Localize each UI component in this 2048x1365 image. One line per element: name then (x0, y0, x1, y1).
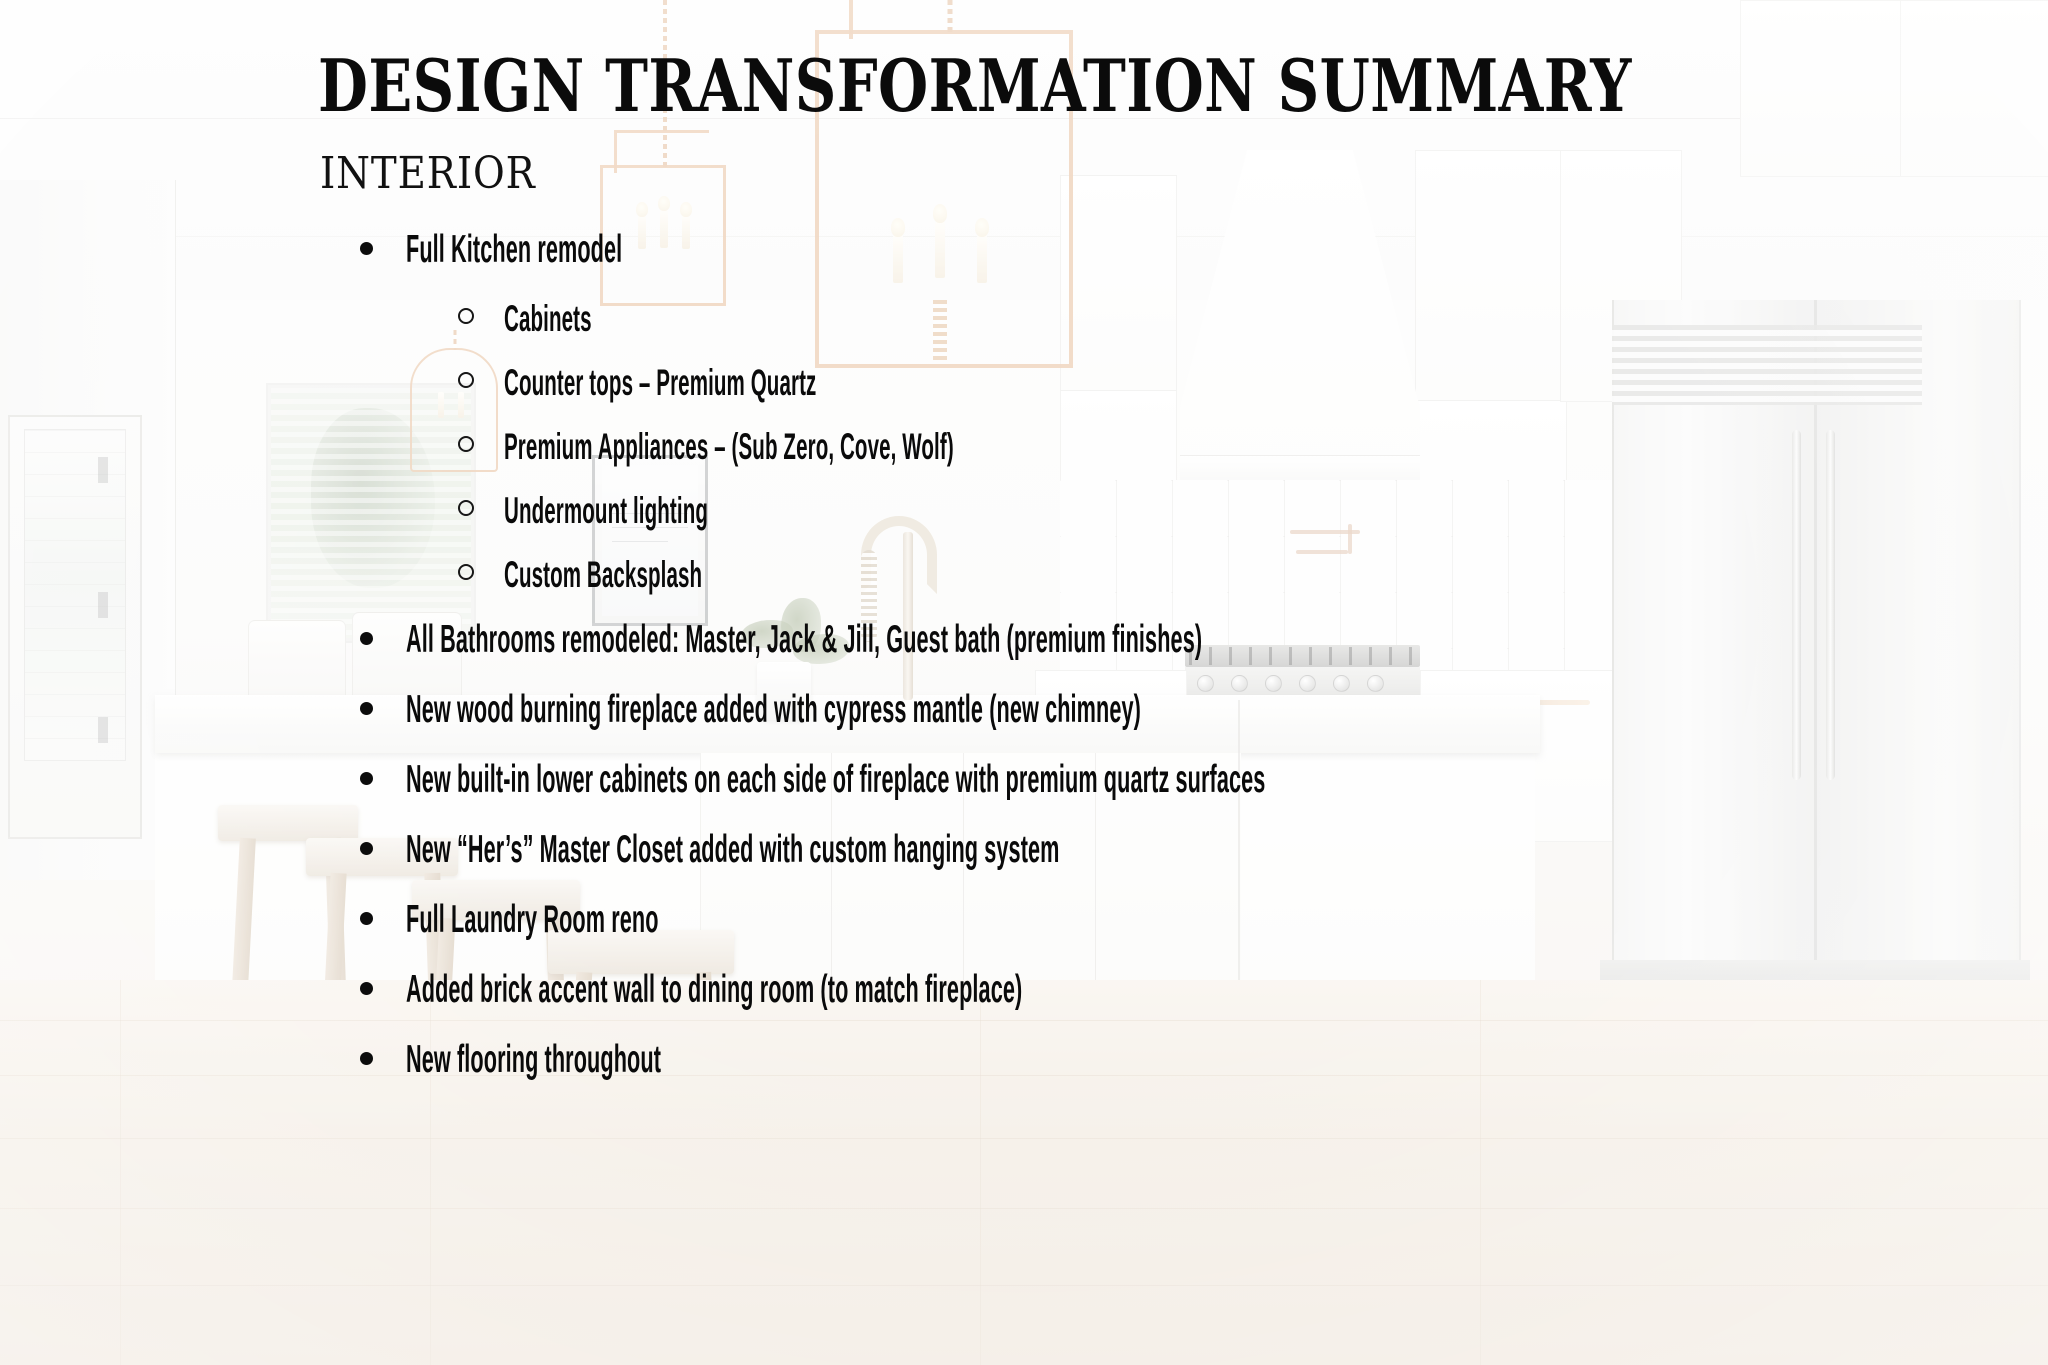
filled-bullet-icon (360, 1052, 406, 1065)
list-item: Counter tops – Premium Quartz (458, 362, 1780, 404)
hollow-bullet-icon (458, 500, 504, 516)
page-title: DESIGN TRANSFORMATION SUMMARY (318, 50, 1632, 122)
list-item-label: New “Her’s” Master Closet added with cus… (406, 828, 1169, 872)
hollow-bullet-icon (458, 436, 504, 452)
list-item-label: Cabinets (504, 298, 1212, 340)
bullet-dot (360, 242, 373, 255)
list-item-label: Custom Backsplash (504, 554, 1212, 596)
list-item-label: Counter tops – Premium Quartz (504, 362, 1212, 404)
hollow-bullet-icon (458, 564, 504, 580)
list-item-label: Full Laundry Room reno (406, 898, 1169, 942)
filled-bullet-icon (360, 632, 406, 645)
bullet-dot (360, 842, 373, 855)
bullet-circle (458, 372, 474, 388)
list-item: Added brick accent wall to dining room (… (360, 968, 1780, 1012)
list-item-label: All Bathrooms remodeled: Master, Jack & … (406, 618, 1202, 662)
hollow-bullet-icon (458, 308, 504, 324)
bullet-dot (360, 982, 373, 995)
filled-bullet-icon (360, 242, 406, 255)
presentation-slide: DESIGN TRANSFORMATION SUMMARY INTERIOR F… (0, 0, 2048, 1365)
list-item: Custom Backsplash (458, 554, 1780, 596)
list-item: New flooring throughout (360, 1038, 1780, 1082)
list-item-label: Premium Appliances – (Sub Zero, Cove, Wo… (504, 426, 1212, 468)
list-item: Full Kitchen remodel (360, 228, 1780, 272)
list-item: All Bathrooms remodeled: Master, Jack & … (360, 618, 1780, 662)
hollow-bullet-icon (458, 372, 504, 388)
filled-bullet-icon (360, 842, 406, 855)
list-item: Cabinets (458, 298, 1780, 340)
list-item: New built-in lower cabinets on each side… (360, 758, 1780, 802)
list-item-label: New built-in lower cabinets on each side… (406, 758, 1265, 802)
bullet-dot (360, 912, 373, 925)
list-item: Full Laundry Room reno (360, 898, 1780, 942)
bullet-circle (458, 500, 474, 516)
filled-bullet-icon (360, 702, 406, 715)
bullet-dot (360, 772, 373, 785)
bullet-dot (360, 702, 373, 715)
filled-bullet-icon (360, 982, 406, 995)
list-item: Premium Appliances – (Sub Zero, Cove, Wo… (458, 426, 1780, 468)
bullet-dot (360, 1052, 373, 1065)
bullet-circle (458, 436, 474, 452)
bullet-circle (458, 308, 474, 324)
list-item: New wood burning fireplace added with cy… (360, 688, 1780, 732)
slide-content: DESIGN TRANSFORMATION SUMMARY INTERIOR F… (0, 0, 2048, 1365)
bullet-dot (360, 632, 373, 645)
list-item: New “Her’s” Master Closet added with cus… (360, 828, 1780, 872)
list-item-label: New flooring throughout (406, 1038, 1169, 1082)
list-item-label: New wood burning fireplace added with cy… (406, 688, 1169, 732)
bullet-circle (458, 564, 474, 580)
filled-bullet-icon (360, 772, 406, 785)
list-item-label: Undermount lighting (504, 490, 1212, 532)
list-item-label: Full Kitchen remodel (406, 228, 1169, 272)
bullet-list: Full Kitchen remodelCabinetsCounter tops… (360, 228, 1780, 1108)
section-subtitle: INTERIOR (320, 148, 536, 199)
list-item: Undermount lighting (458, 490, 1780, 532)
list-item-label: Added brick accent wall to dining room (… (406, 968, 1169, 1012)
filled-bullet-icon (360, 912, 406, 925)
